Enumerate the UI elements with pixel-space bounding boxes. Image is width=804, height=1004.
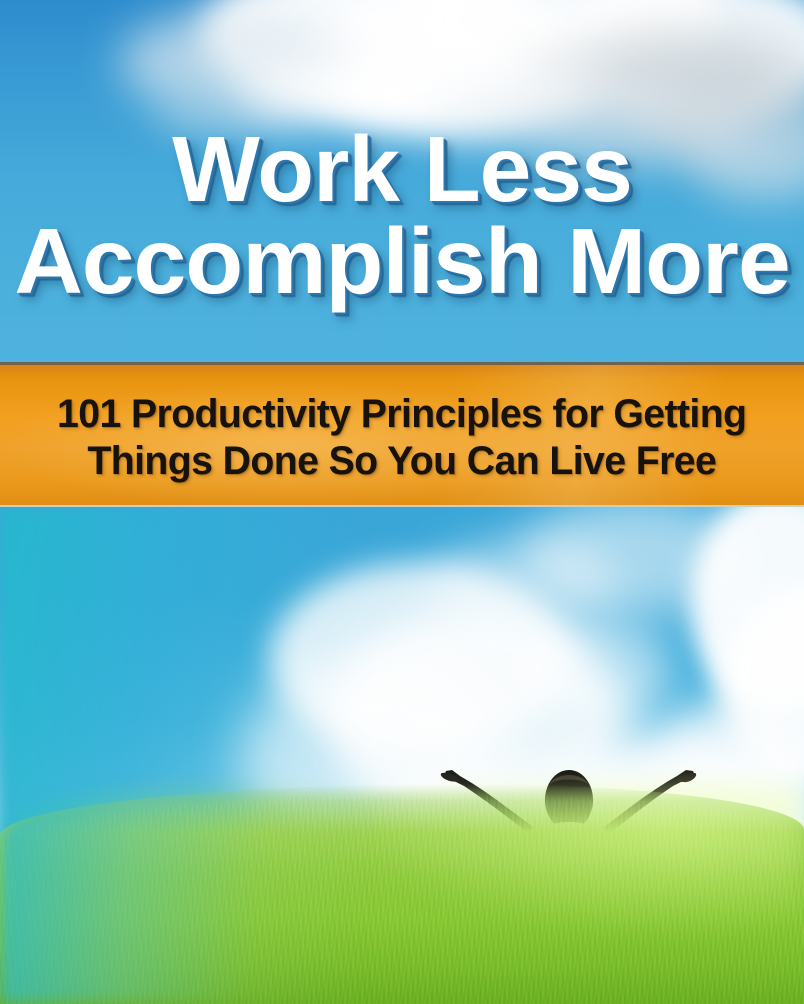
title-line-primary: Work Less [0,123,804,216]
title-line-secondary: Accomplish More [0,215,804,308]
subtitle-line-1: 101 Productivity Principles for Getting [57,392,746,437]
cloud-shape [430,537,620,627]
grass-highlight-overlay [364,784,804,934]
subtitle-line-2: Things Done So You Can Live Free [88,439,717,484]
subtitle-text-block: 101 Productivity Principles for Getting … [0,365,804,507]
subtitle-banner: 101 Productivity Principles for Getting … [0,362,804,507]
book-cover: Work Less Accomplish More 101 Productivi… [0,0,804,1004]
bottom-photo-scene [0,507,804,1004]
